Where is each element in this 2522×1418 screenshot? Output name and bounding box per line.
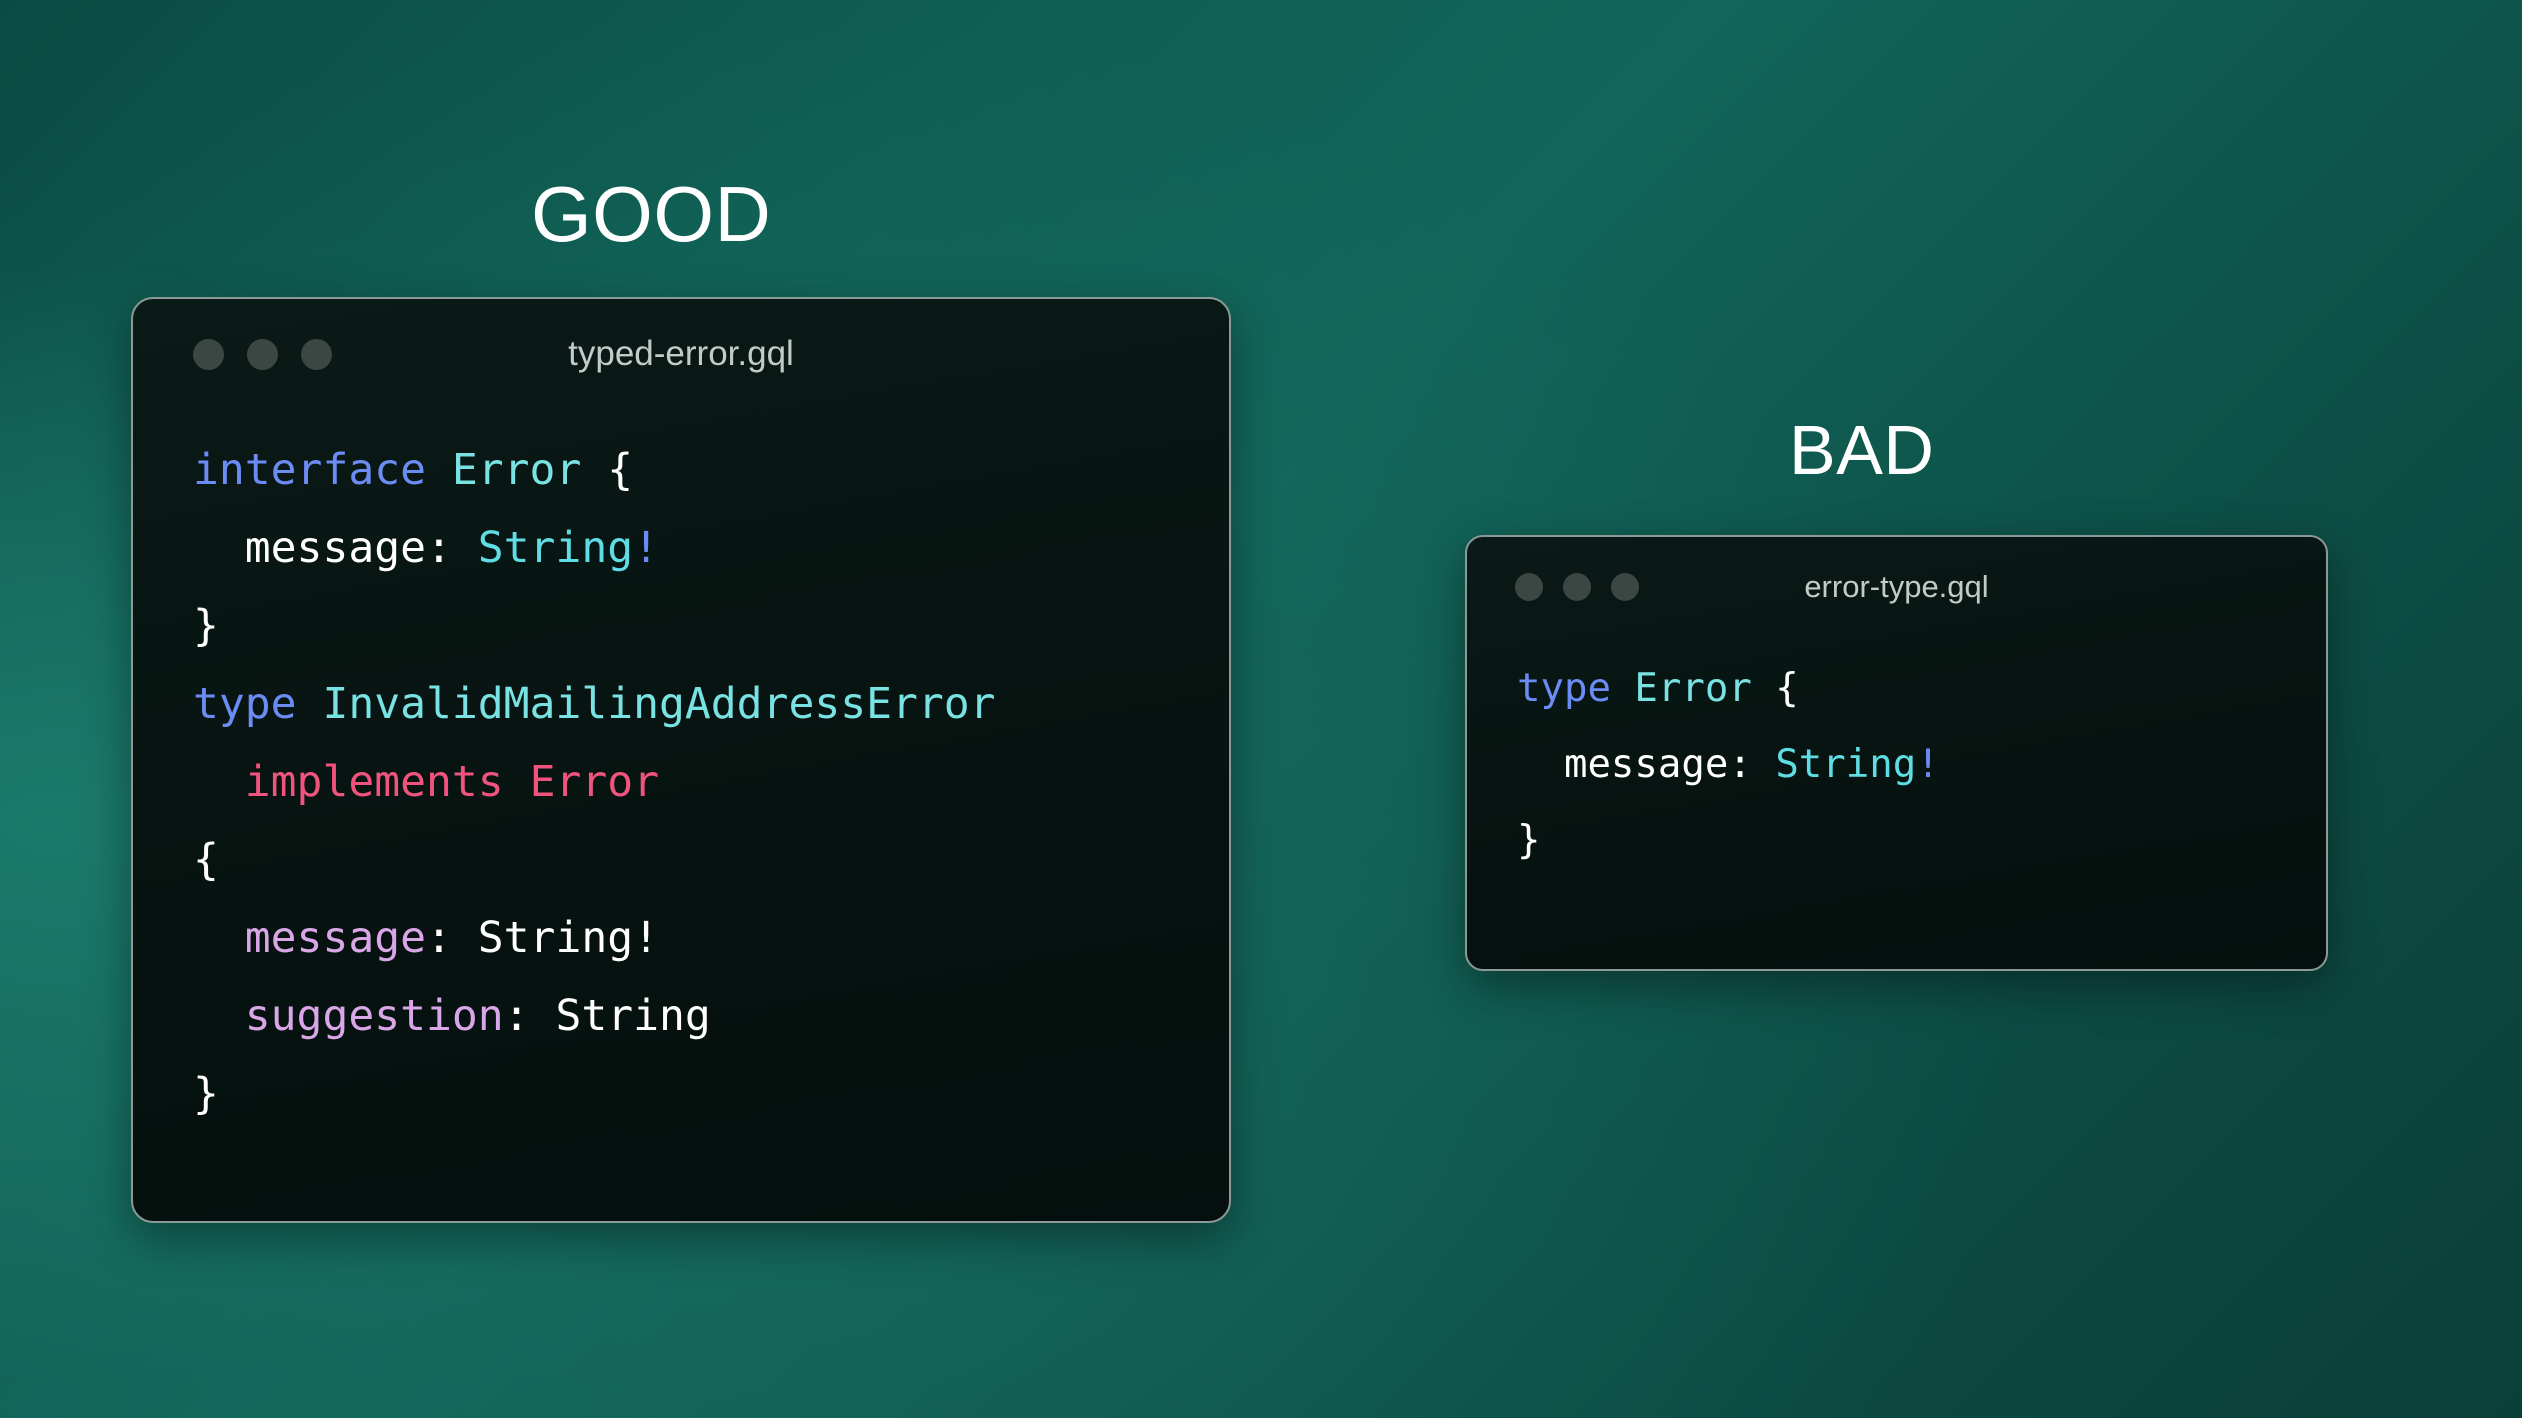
code-token: message (245, 913, 426, 963)
good-example-heading: GOOD (531, 175, 771, 253)
code-token: message (245, 523, 426, 573)
code-token: ! (1916, 742, 1939, 787)
code-line: message: String! (193, 899, 1229, 977)
code-token: : (1728, 742, 1775, 787)
code-token (581, 445, 607, 495)
code-token: type (193, 679, 297, 729)
code-token: : (504, 991, 556, 1041)
code-token: : (426, 913, 478, 963)
code-token: InvalidMailingAddressError (322, 679, 995, 729)
code-line: message: String! (193, 509, 1229, 587)
code-token: { (1775, 666, 1798, 711)
code-token: ! (633, 523, 659, 573)
code-token: Error (452, 445, 581, 495)
window-filename-good: typed-error.gql (133, 334, 1229, 374)
window-titlebar: error-type.gql (1467, 537, 2326, 637)
code-token: { (607, 445, 633, 495)
code-token: Error (1634, 666, 1751, 711)
code-token: type (1517, 666, 1611, 711)
code-token: implements (245, 757, 504, 807)
code-block-good[interactable]: interface Error { message: String!}type … (133, 409, 1229, 1133)
window-filename-bad: error-type.gql (1467, 569, 2326, 605)
code-token: Error (530, 757, 659, 807)
code-token: String! (478, 913, 659, 963)
code-line: type InvalidMailingAddressError (193, 665, 1229, 743)
code-line: type Error { (1517, 651, 2326, 727)
code-window-good[interactable]: typed-error.gql interface Error { messag… (131, 297, 1231, 1223)
code-token: : (426, 523, 478, 573)
code-token (1752, 666, 1775, 711)
code-line: { (193, 821, 1229, 899)
code-token: { (193, 835, 219, 885)
code-block-bad[interactable]: type Error { message: String!} (1467, 637, 2326, 879)
slide-canvas: GOOD BAD typed-error.gql interface Error… (0, 0, 2522, 1418)
code-line: } (1517, 803, 2326, 879)
code-token: } (1517, 818, 1540, 863)
code-token (504, 757, 530, 807)
code-token (193, 913, 245, 963)
code-token (426, 445, 452, 495)
code-line: } (193, 1055, 1229, 1133)
code-token (193, 757, 245, 807)
code-token (1517, 742, 1564, 787)
code-token (1611, 666, 1634, 711)
code-line: message: String! (1517, 727, 2326, 803)
code-token (193, 991, 245, 1041)
code-line: suggestion: String (193, 977, 1229, 1055)
code-line: implements Error (193, 743, 1229, 821)
code-token: String (1775, 742, 1916, 787)
code-token: String (478, 523, 633, 573)
code-token: suggestion (245, 991, 504, 1041)
code-token (193, 523, 245, 573)
code-token: } (193, 1069, 219, 1119)
code-line: interface Error { (193, 431, 1229, 509)
window-titlebar: typed-error.gql (133, 299, 1229, 409)
code-token: message (1564, 742, 1728, 787)
code-token: interface (193, 445, 426, 495)
code-window-bad[interactable]: error-type.gql type Error { message: Str… (1465, 535, 2328, 971)
code-token (297, 679, 323, 729)
code-token: String (555, 991, 710, 1041)
code-line: } (193, 587, 1229, 665)
bad-example-heading: BAD (1789, 415, 1934, 485)
code-token: } (193, 601, 219, 651)
